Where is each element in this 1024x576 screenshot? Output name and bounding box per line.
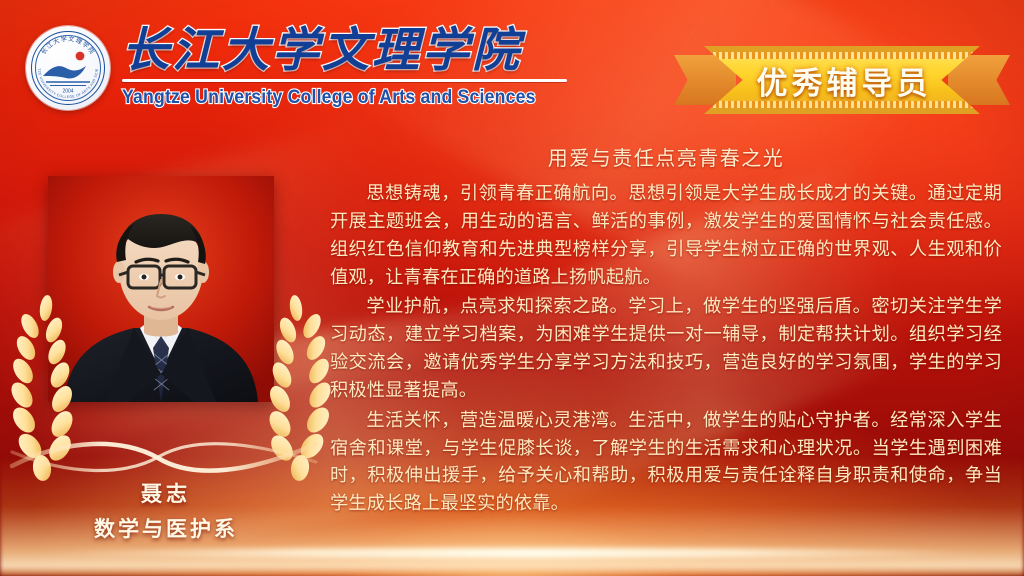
bottom-light-streak [41, 548, 983, 558]
person-caption: 聂志 数学与医护系 [0, 478, 332, 543]
person-department: 数学与医护系 [0, 513, 332, 543]
ribbon-swoosh-icon [8, 432, 320, 478]
article-body: 用爱与责任点亮青春之光 思想铸魂，引领青春正确航向。思想引领是大学生成长成才的关… [330, 142, 1002, 520]
university-wordmark: 长江大学文理学院 Yangtze University College of A… [122, 28, 567, 109]
emblem-artwork: 长江大学文理学院 YANGTZE UNIVERSITY COLLEGE OF A… [26, 26, 110, 110]
university-name-cn: 长江大学文理学院 [122, 28, 567, 75]
article-paragraph: 生活关怀，营造温暖心灵港湾。生活中，做学生的贴心守护者。经常深入学生宿舍和课堂，… [330, 407, 1002, 518]
header-brand: 长江大学文理学院 YANGTZE UNIVERSITY COLLEGE OF A… [26, 26, 567, 110]
svg-text:2004: 2004 [62, 89, 73, 95]
article-paragraph: 思想铸魂，引领青春正确航向。思想引领是大学生成长成才的关键。通过定期开展主题班会… [330, 180, 1002, 291]
university-name-en: Yangtze University College of Arts and S… [122, 87, 536, 109]
award-poster: 长江大学文理学院 YANGTZE UNIVERSITY COLLEGE OF A… [0, 0, 1024, 576]
wordmark-divider [122, 79, 567, 82]
university-emblem-icon: 长江大学文理学院 YANGTZE UNIVERSITY COLLEGE OF A… [26, 26, 110, 110]
award-ribbon: 优秀辅导员 [704, 46, 980, 114]
award-title: 优秀辅导员 [704, 46, 980, 114]
person-name: 聂志 [0, 478, 332, 508]
svg-text:长江大学文理学院: 长江大学文理学院 [39, 35, 96, 56]
article-paragraph: 学业护航，点亮求知探索之路。学习上，做学生的坚强后盾。密切关注学生学习动态，建立… [330, 293, 1002, 404]
article-title: 用爱与责任点亮青春之光 [330, 142, 1002, 171]
swoosh-artwork [8, 432, 320, 478]
